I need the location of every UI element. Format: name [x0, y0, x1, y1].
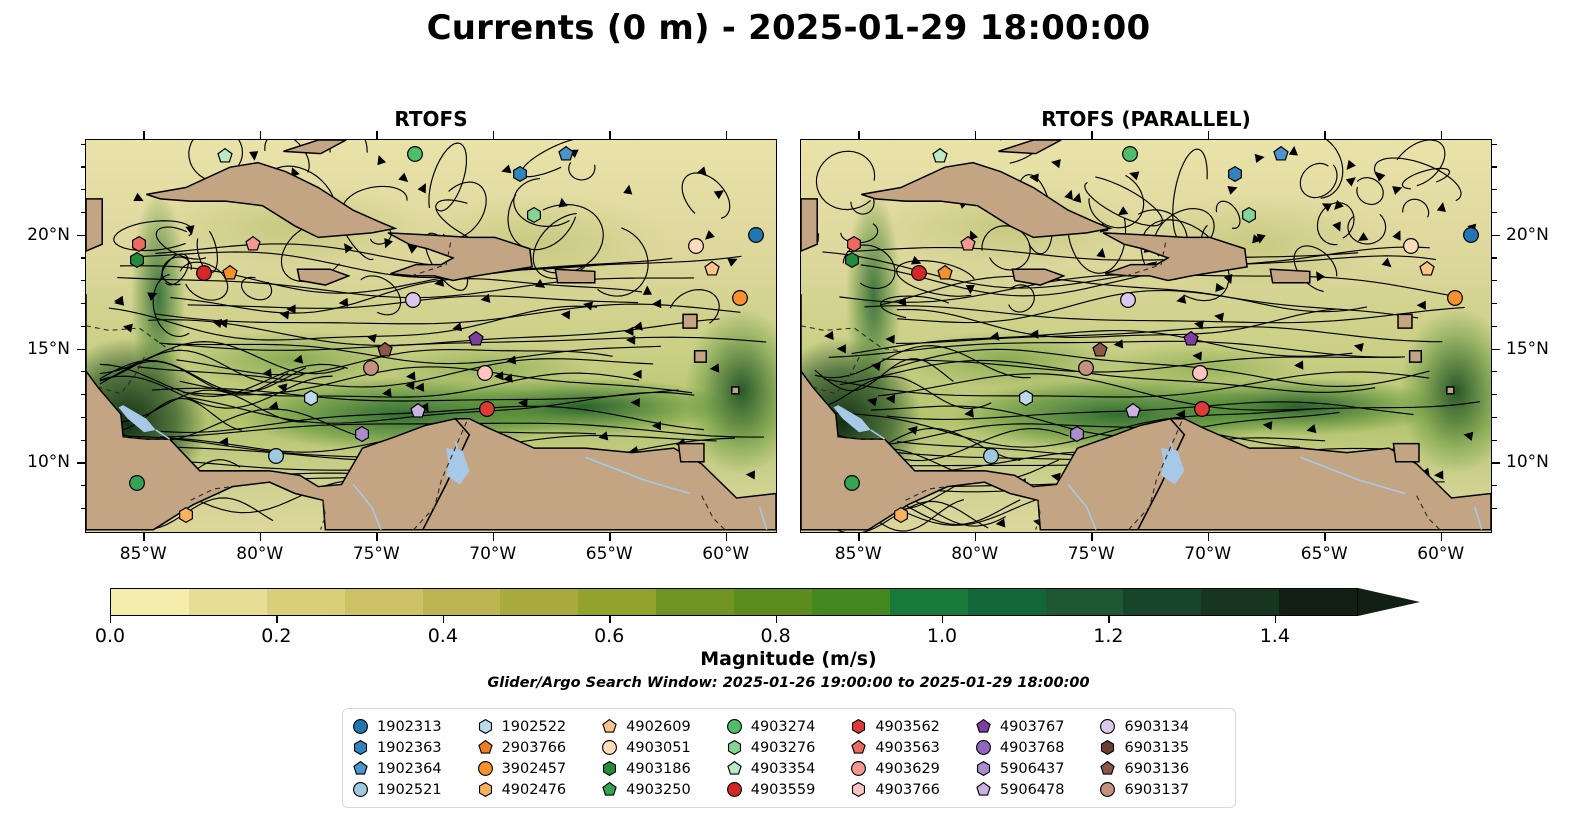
float-marker-4903562[interactable] [479, 401, 495, 421]
lat-label: 10°N [1506, 452, 1549, 472]
lat-tick [1492, 462, 1500, 464]
lat-minor-tick [81, 166, 86, 167]
legend-item-6903135[interactable]: 6903135 [1100, 737, 1225, 758]
legend-label: 6903136 [1124, 761, 1189, 777]
colorbar-segment [968, 589, 1046, 615]
lat-minor-tick [81, 189, 86, 190]
float-marker-5906478[interactable] [410, 403, 426, 423]
float-marker-4903250[interactable] [129, 475, 145, 495]
float-marker-1902364[interactable] [558, 146, 574, 166]
lon-tick [1091, 131, 1093, 139]
lon-tick [609, 131, 611, 139]
land-trinidad [678, 444, 704, 462]
lake-lake-nicaragua [119, 405, 156, 432]
float-marker-4903051[interactable] [1403, 238, 1419, 258]
lat-minor-tick [1492, 257, 1497, 258]
float-marker-4903766[interactable] [477, 365, 493, 385]
legend-item-4903629[interactable]: 4903629 [851, 758, 976, 779]
float-marker-4903276[interactable] [526, 207, 542, 227]
legend-marker-hexagon-icon [851, 719, 866, 734]
float-marker-1902363[interactable] [1227, 166, 1243, 186]
legend-label: 1902313 [377, 719, 442, 735]
float-marker-4903186[interactable] [129, 252, 145, 272]
lat-label: 20°N [27, 225, 70, 245]
float-id-legend[interactable]: 1902313190252249026094903274490356249037… [342, 708, 1236, 808]
lat-tick [77, 235, 85, 237]
lon-tick [1208, 533, 1210, 541]
legend-marker-hexagon-icon [851, 782, 866, 797]
lat-tick [77, 349, 85, 351]
panel-title-right: RTOFS (PARALLEL) [800, 107, 1492, 131]
legend-label: 4903250 [626, 782, 691, 798]
lat-minor-tick [1492, 394, 1497, 395]
colorbar-tick-label: 1.4 [1260, 625, 1290, 647]
float-marker-6903136[interactable] [377, 342, 393, 362]
land-cuba [146, 163, 395, 238]
lon-tick [858, 131, 860, 139]
legend-marker-hexagon-icon [353, 740, 368, 755]
legend-marker-circle-icon [1100, 719, 1115, 734]
lat-minor-tick [81, 144, 86, 145]
legend-label: 4903186 [626, 761, 691, 777]
legend-item-4903354[interactable]: 4903354 [727, 758, 852, 779]
legend-marker-pentagon-icon [976, 782, 991, 797]
lon-tick [975, 533, 977, 541]
lon-tick [376, 533, 378, 541]
legend-marker-hexagon-icon [478, 719, 493, 734]
legend-item-5906478[interactable]: 5906478 [976, 779, 1101, 800]
legend-item-1902522[interactable]: 1902522 [478, 716, 603, 737]
float-marker-5906437[interactable] [354, 426, 370, 446]
lat-minor-tick [1492, 189, 1497, 190]
colorbar-tick-label: 0.6 [594, 625, 624, 647]
float-marker-4903559[interactable] [196, 265, 212, 285]
lon-label: 60°W [1417, 544, 1464, 564]
float-marker-1902522[interactable] [303, 390, 319, 410]
float-marker-1902521[interactable] [268, 448, 284, 468]
colorbar-tick-label: 1.0 [927, 625, 957, 647]
legend-item-4903563[interactable]: 4903563 [851, 737, 976, 758]
legend-marker-pentagon-icon [976, 719, 991, 734]
lat-minor-tick [1492, 212, 1497, 213]
legend-item-4903051[interactable]: 4903051 [602, 737, 727, 758]
legend-label: 4903766 [875, 782, 940, 798]
lon-tick [1324, 131, 1326, 139]
legend-item-4903766[interactable]: 4903766 [851, 779, 976, 800]
lat-minor-tick [1492, 485, 1497, 486]
legend-row: 1902364390245749031864903354490362959064… [353, 758, 1225, 779]
legend-row: 1902521490247649032504903559490376659064… [353, 779, 1225, 800]
lat-minor-tick [1492, 440, 1497, 441]
legend-label: 4903276 [751, 740, 816, 756]
lat-tick [1492, 235, 1500, 237]
legend-label: 4903563 [875, 740, 940, 756]
land-puerto-rico [1270, 269, 1309, 283]
colorbar-tick [942, 616, 943, 623]
legend-item-6903137[interactable]: 6903137 [1100, 779, 1225, 800]
legend-marker-hexagon-icon [1100, 740, 1115, 755]
lat-minor-tick [1492, 326, 1497, 327]
float-marker-5906437[interactable] [1069, 426, 1085, 446]
colorbar-segment [345, 589, 423, 615]
lon-tick [493, 533, 495, 541]
lon-label: 85°W [835, 544, 882, 564]
legend-label: 6903135 [1124, 740, 1189, 756]
float-marker-4902476[interactable] [732, 290, 748, 310]
lon-label: 70°W [1184, 544, 1231, 564]
legend-label: 2903766 [502, 740, 567, 756]
legend-label: 4903767 [1000, 719, 1065, 735]
lat-label: 20°N [1506, 225, 1549, 245]
colorbar-tick-label: 0.8 [760, 625, 790, 647]
float-marker-4903354[interactable] [932, 148, 948, 168]
float-marker-4903559[interactable] [911, 265, 927, 285]
colorbar-segment [423, 589, 501, 615]
lon-label: 65°W [1301, 544, 1348, 564]
legend-marker-circle-icon [727, 782, 742, 797]
legend-row: 1902313190252249026094903274490356249037… [353, 716, 1225, 737]
lat-minor-tick [81, 508, 86, 509]
lat-label: 15°N [27, 339, 70, 359]
legend-label: 6903134 [1124, 719, 1189, 735]
legend-marker-pentagon-icon [727, 761, 742, 776]
figure-title: Currents (0 m) - 2025-01-29 18:00:00 [0, 8, 1577, 48]
colorbar-tick [776, 616, 777, 623]
lat-minor-tick [81, 280, 86, 281]
lat-minor-tick [81, 485, 86, 486]
land-jamaica [1012, 269, 1063, 285]
colorbar-label: Magnitude (m/s) [0, 648, 1577, 670]
float-marker-4903629[interactable] [245, 236, 261, 256]
lon-tick [260, 533, 262, 541]
float-marker-4903354[interactable] [217, 148, 233, 168]
lon-label: 80°W [236, 544, 283, 564]
float-marker-4903276[interactable] [1241, 207, 1257, 227]
float-marker-4902609[interactable] [704, 261, 720, 281]
lat-minor-tick [1492, 417, 1497, 418]
legend-item-4903768[interactable]: 4903768 [976, 737, 1101, 758]
legend-item-2903766[interactable]: 2903766 [478, 737, 603, 758]
lon-tick [1441, 533, 1443, 541]
legend-item-4902476[interactable]: 4902476 [478, 779, 603, 800]
lon-tick [1091, 533, 1093, 541]
legend-marker-pentagon-icon [851, 740, 866, 755]
float-marker-6903134[interactable] [405, 292, 421, 312]
legend-label: 1902364 [377, 761, 442, 777]
colorbar-tick [443, 616, 444, 623]
map-left[interactable] [85, 139, 777, 533]
float-marker-4903186[interactable] [844, 252, 860, 272]
legend-marker-circle-icon [976, 740, 991, 755]
lat-minor-tick [1492, 371, 1497, 372]
float-marker-1902313[interactable] [748, 227, 764, 247]
float-marker-4903250[interactable] [844, 475, 860, 495]
colorbar-segment [656, 589, 734, 615]
legend-marker-pentagon-icon [1100, 761, 1115, 776]
lat-minor-tick [1492, 303, 1497, 304]
colorbar-segment [1279, 589, 1357, 615]
lat-minor-tick [1492, 144, 1497, 145]
colorbar-segment [1046, 589, 1124, 615]
legend-marker-hexagon-icon [602, 761, 617, 776]
lat-tick [1492, 349, 1500, 351]
legend-marker-circle-icon [851, 761, 866, 776]
lat-minor-tick [1492, 280, 1497, 281]
map-right[interactable] [800, 139, 1492, 533]
legend-marker-circle-icon [727, 719, 742, 734]
legend-item-1902313[interactable]: 1902313 [353, 716, 478, 737]
lat-minor-tick [81, 303, 86, 304]
lon-tick [1441, 131, 1443, 139]
lon-label: 80°W [951, 544, 998, 564]
legend-item-4902609[interactable]: 4902609 [602, 716, 727, 737]
legend-label: 6903137 [1124, 782, 1189, 798]
search-window-subtitle: Glider/Argo Search Window: 2025-01-26 19… [0, 675, 1577, 691]
legend-label: 5906437 [1000, 761, 1065, 777]
lat-minor-tick [81, 440, 86, 441]
float-marker-1902522[interactable] [1018, 390, 1034, 410]
land-barbados [1447, 387, 1454, 394]
lon-label: 70°W [469, 544, 516, 564]
lat-minor-tick [1492, 166, 1497, 167]
lon-tick [1208, 131, 1210, 139]
lon-tick [493, 131, 495, 139]
legend-item-4903276[interactable]: 4903276 [727, 737, 852, 758]
legend-marker-pentagon-icon [602, 719, 617, 734]
lat-minor-tick [81, 417, 86, 418]
colorbar-segment [812, 589, 890, 615]
lat-minor-tick [1492, 508, 1497, 509]
lat-tick [77, 462, 85, 464]
colorbar-extend-arrow [1358, 588, 1420, 616]
legend-marker-circle-icon [353, 782, 368, 797]
float-marker-1902313[interactable] [1463, 227, 1479, 247]
legend-item-5906437[interactable]: 5906437 [976, 758, 1101, 779]
float-marker-6903136[interactable] [1092, 342, 1108, 362]
colorbar-tick [1275, 616, 1276, 623]
legend-label: 4902609 [626, 719, 691, 735]
legend-marker-circle-icon [602, 740, 617, 755]
lat-minor-tick [81, 394, 86, 395]
float-marker-3902457[interactable] [937, 265, 953, 285]
lon-tick [975, 131, 977, 139]
float-marker-4903274[interactable] [407, 146, 423, 166]
legend-label: 4903559 [751, 782, 816, 798]
land-guadeloupe [683, 314, 697, 328]
float-marker-4903274[interactable] [1122, 146, 1138, 166]
float-marker-5906478[interactable] [1125, 403, 1141, 423]
lon-tick [376, 131, 378, 139]
lon-tick [260, 131, 262, 139]
float-marker-4902476b[interactable] [893, 507, 909, 527]
legend-item-4903274[interactable]: 4903274 [727, 716, 852, 737]
colorbar-segment [578, 589, 656, 615]
legend-item-1902363[interactable]: 1902363 [353, 737, 478, 758]
legend-label: 5906478 [1000, 782, 1065, 798]
colorbar: 0.00.20.40.60.81.01.21.4 [110, 588, 1430, 616]
colorbar-segment [1123, 589, 1201, 615]
legend-label: 4903629 [875, 761, 940, 777]
float-marker-1902363[interactable] [512, 166, 528, 186]
legend-marker-pentagon-icon [353, 761, 368, 776]
land-bahamas-a [998, 140, 1061, 154]
legend-marker-circle-icon [478, 761, 493, 776]
land-puerto-rico [555, 269, 594, 283]
colorbar-tick [276, 616, 277, 623]
colorbar-segment [1201, 589, 1279, 615]
legend-marker-circle-icon [1100, 782, 1115, 797]
lon-tick [726, 533, 728, 541]
legend-item-3902457[interactable]: 3902457 [478, 758, 603, 779]
colorbar-tick [1108, 616, 1109, 623]
colorbar-tick-label: 0.2 [261, 625, 291, 647]
legend-label: 1902522 [502, 719, 567, 735]
float-marker-3902457[interactable] [222, 265, 238, 285]
legend-row: 1902363290376649030514903276490356349037… [353, 737, 1225, 758]
colorbar-tick [110, 616, 111, 623]
legend-marker-hexagon-icon [976, 761, 991, 776]
legend-label: 1902363 [377, 740, 442, 756]
legend-item-1902364[interactable]: 1902364 [353, 758, 478, 779]
colorbar-segment [734, 589, 812, 615]
float-marker-4902476[interactable] [1447, 290, 1463, 310]
float-marker-4903766[interactable] [1192, 365, 1208, 385]
float-marker-6903137[interactable] [363, 360, 379, 380]
float-marker-4903629[interactable] [960, 236, 976, 256]
float-marker-1902521[interactable] [983, 448, 999, 468]
figure-root: Currents (0 m) - 2025-01-29 18:00:00 RTO… [0, 0, 1577, 827]
legend-item-4903559[interactable]: 4903559 [727, 779, 852, 800]
land-guadeloupe [1398, 314, 1412, 328]
legend-item-6903136[interactable]: 6903136 [1100, 758, 1225, 779]
lon-tick [143, 131, 145, 139]
lon-tick [143, 533, 145, 541]
legend-marker-pentagon-icon [478, 740, 493, 755]
lake-lake-nicaragua [834, 405, 871, 432]
legend-item-4903250[interactable]: 4903250 [602, 779, 727, 800]
land-martinique [695, 351, 707, 362]
colorbar-segment [189, 589, 267, 615]
legend-item-4903562[interactable]: 4903562 [851, 716, 976, 737]
lon-tick [609, 533, 611, 541]
lon-label: 65°W [586, 544, 633, 564]
colorbar-segment [267, 589, 345, 615]
lon-label: 75°W [353, 544, 400, 564]
legend-label: 4903274 [751, 719, 816, 735]
legend-item-6903134[interactable]: 6903134 [1100, 716, 1225, 737]
legend-item-4903767[interactable]: 4903767 [976, 716, 1101, 737]
float-marker-4903767[interactable] [468, 331, 484, 351]
lat-minor-tick [81, 212, 86, 213]
legend-marker-pentagon-icon [602, 782, 617, 797]
lon-tick [858, 533, 860, 541]
panel-title-left: RTOFS [85, 107, 777, 131]
float-marker-4903051[interactable] [688, 238, 704, 258]
lon-label: 75°W [1068, 544, 1115, 564]
colorbar-gradient [110, 588, 1358, 616]
float-marker-4902476b[interactable] [178, 507, 194, 527]
lat-minor-tick [81, 257, 86, 258]
land-jamaica [297, 269, 348, 285]
lat-minor-tick [81, 371, 86, 372]
colorbar-tick [609, 616, 610, 623]
legend-label: 4903768 [1000, 740, 1065, 756]
land-yucatan-tip [801, 199, 817, 251]
land-hispaniola [1103, 233, 1247, 281]
land-martinique [1410, 351, 1422, 362]
colorbar-tick-label: 1.2 [1093, 625, 1123, 647]
legend-label: 4903354 [751, 761, 816, 777]
land-barbados [732, 387, 739, 394]
lat-label: 15°N [1506, 339, 1549, 359]
legend-item-1902521[interactable]: 1902521 [353, 779, 478, 800]
legend-marker-hexagon-icon [727, 740, 742, 755]
colorbar-tick-label: 0.4 [428, 625, 458, 647]
legend-marker-hexagon-icon [478, 782, 493, 797]
colorbar-segment [111, 589, 189, 615]
lon-label: 85°W [120, 544, 167, 564]
legend-marker-circle-icon [353, 719, 368, 734]
land-hispaniola [388, 233, 532, 281]
float-marker-6903134[interactable] [1120, 292, 1136, 312]
lat-label: 10°N [27, 452, 70, 472]
land-trinidad [1393, 444, 1419, 462]
land-bahamas-a [283, 140, 346, 154]
float-marker-4902609[interactable] [1419, 261, 1435, 281]
lon-tick [726, 131, 728, 139]
legend-label: 4903051 [626, 740, 691, 756]
legend-label: 1902521 [377, 782, 442, 798]
colorbar-tick-label: 0.0 [95, 625, 125, 647]
legend-item-4903186[interactable]: 4903186 [602, 758, 727, 779]
lon-label: 60°W [702, 544, 749, 564]
float-marker-4903562[interactable] [1194, 401, 1210, 421]
float-marker-6903137[interactable] [1078, 360, 1094, 380]
legend-label: 4902476 [502, 782, 567, 798]
float-marker-4903767[interactable] [1183, 331, 1199, 351]
lat-minor-tick [81, 326, 86, 327]
land-yucatan-tip [86, 199, 102, 251]
colorbar-segment [500, 589, 578, 615]
legend-label: 3902457 [502, 761, 567, 777]
legend-label: 4903562 [875, 719, 940, 735]
colorbar-segment [890, 589, 968, 615]
lon-tick [1324, 533, 1326, 541]
landmasses [86, 140, 776, 530]
float-marker-1902364[interactable] [1273, 146, 1289, 166]
